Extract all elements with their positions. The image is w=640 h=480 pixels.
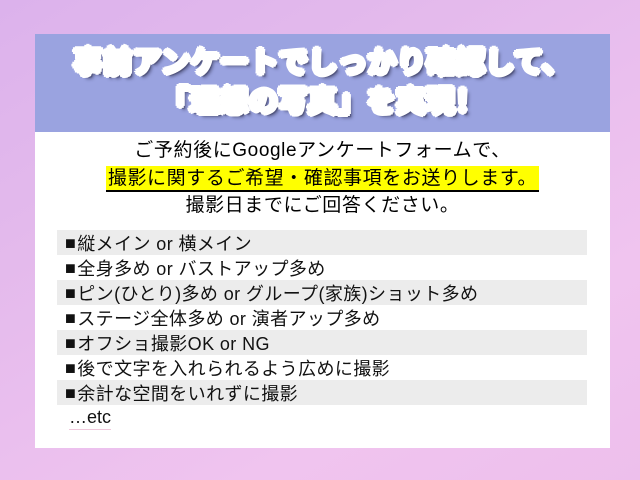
list-item: ■ オフショ撮影OK or NG	[57, 330, 587, 355]
list-item: ■ 余計な空間をいれずに撮影	[57, 380, 587, 405]
subtitle-line-3: 撮影日までにご回答ください。	[35, 192, 610, 220]
content-card: 事前アンケートでしっかり確認して、 「理想の写真」を実現！ ご予約後にGoogl…	[35, 34, 610, 448]
etc-label: …etc	[69, 407, 111, 430]
list-item: ■ 全身多め or バストアップ多め	[57, 255, 587, 280]
square-bullet-icon: ■	[65, 334, 76, 352]
highlighted-text: 撮影に関するご希望・確認事項をお送りします。	[106, 166, 539, 193]
slide-canvas: 事前アンケートでしっかり確認して、 「理想の写真」を実現！ ご予約後にGoogl…	[0, 0, 640, 480]
subtitle-block: ご予約後にGoogleアンケートフォームで、 撮影に関するご希望・確認事項をお送…	[35, 132, 610, 220]
list-item-label: オフショ撮影OK or NG	[77, 330, 270, 356]
list-item: ■ 後で文字を入れられるよう広めに撮影	[57, 355, 587, 380]
header-title-line-2: 「理想の写真」を実現！	[160, 84, 485, 121]
list-item: ■ ピン(ひとり)多め or グループ(家族)ショット多め	[57, 280, 587, 305]
list-item-label: 全身多め or バストアップ多め	[77, 255, 325, 281]
list-item: ■ 縦メイン or 横メイン	[57, 230, 587, 255]
subtitle-line-1: ご予約後にGoogleアンケートフォームで、	[35, 137, 610, 165]
square-bullet-icon: ■	[65, 384, 76, 402]
square-bullet-icon: ■	[65, 309, 76, 327]
square-bullet-icon: ■	[65, 284, 76, 302]
list-item-label: ピン(ひとり)多め or グループ(家族)ショット多め	[77, 280, 478, 306]
subtitle-line-2: 撮影に関するご希望・確認事項をお送りします。	[35, 165, 610, 193]
checklist-footer: …etc	[57, 405, 587, 431]
square-bullet-icon: ■	[65, 359, 76, 377]
square-bullet-icon: ■	[65, 234, 76, 252]
checklist: ■ 縦メイン or 横メイン ■ 全身多め or バストアップ多め ■ ピン(ひ…	[57, 230, 587, 405]
header-title-line-1: 事前アンケートでしっかり確認して、	[73, 45, 571, 82]
header-band: 事前アンケートでしっかり確認して、 「理想の写真」を実現！	[35, 34, 610, 132]
list-item: ■ ステージ全体多め or 演者アップ多め	[57, 305, 587, 330]
list-item-label: 縦メイン or 横メイン	[77, 230, 252, 256]
list-item-label: 余計な空間をいれずに撮影	[77, 380, 298, 406]
list-item-label: 後で文字を入れられるよう広めに撮影	[77, 355, 390, 381]
list-item-label: ステージ全体多め or 演者アップ多め	[77, 305, 380, 331]
square-bullet-icon: ■	[65, 259, 76, 277]
